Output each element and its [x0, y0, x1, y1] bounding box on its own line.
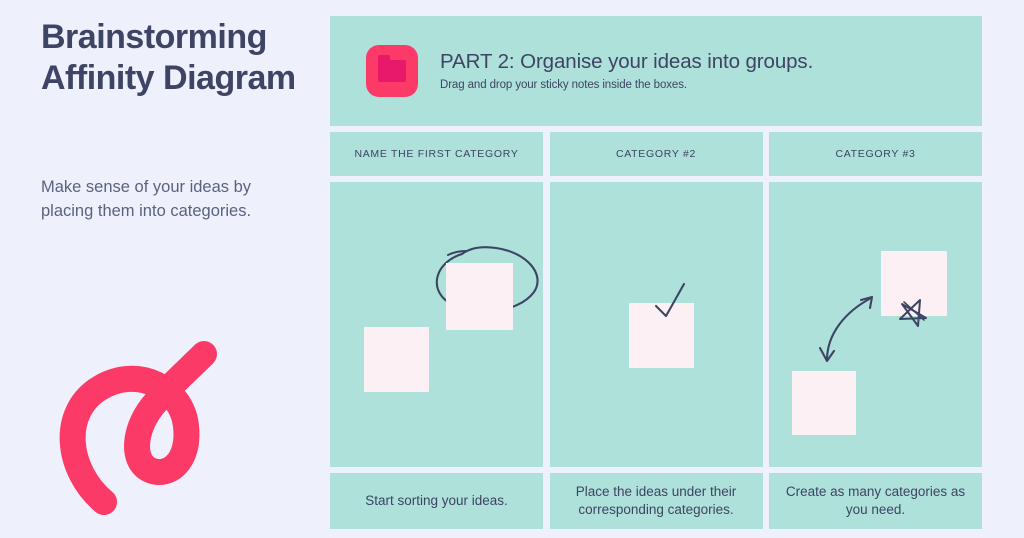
category-dropzone-2[interactable] — [550, 182, 763, 467]
category-dropzone-1[interactable] — [330, 182, 543, 467]
sticky-note[interactable] — [629, 303, 694, 368]
folder-glyph — [378, 60, 406, 82]
banner-text-group: PART 2: Organise your ideas into groups.… — [440, 51, 813, 91]
page-subtitle: Make sense of your ideas by placing them… — [41, 176, 301, 224]
category-header-input-1[interactable]: NAME THE FIRST CATEGORY — [330, 132, 543, 176]
folder-icon — [366, 45, 418, 97]
banner-subtitle: Drag and drop your sticky notes inside t… — [440, 79, 813, 91]
category-footer-caption-1: Start sorting your ideas. — [330, 473, 543, 529]
category-dropzone-3[interactable] — [769, 182, 982, 467]
category-footer-caption-3: Create as many categories as you need. — [769, 473, 982, 529]
sticky-note[interactable] — [364, 327, 429, 392]
category-column-3: CATEGORY #3 Create as many categories as… — [769, 132, 982, 529]
instruction-banner: PART 2: Organise your ideas into groups.… — [330, 16, 982, 126]
hand-drawn-double-arrow-annotation — [817, 290, 879, 368]
category-footer-caption-2: Place the ideas under their correspondin… — [550, 473, 763, 529]
affinity-diagram-board: PART 2: Organise your ideas into groups.… — [330, 16, 982, 523]
left-intro-panel: Brainstorming Affinity Diagram Make sens… — [0, 0, 330, 538]
banner-title: PART 2: Organise your ideas into groups. — [440, 51, 813, 74]
sticky-note[interactable] — [881, 251, 947, 316]
category-header-input-3[interactable]: CATEGORY #3 — [769, 132, 982, 176]
page-title: Brainstorming Affinity Diagram — [41, 17, 316, 100]
pink-loop-squiggle-logo — [42, 330, 242, 530]
sticky-note[interactable] — [446, 263, 513, 330]
category-header-input-2[interactable]: CATEGORY #2 — [550, 132, 763, 176]
sticky-note[interactable] — [792, 371, 856, 435]
category-column-2: CATEGORY #2 Place the ideas under their … — [550, 132, 763, 529]
category-column-1: NAME THE FIRST CATEGORY Start sorting yo… — [330, 132, 543, 529]
